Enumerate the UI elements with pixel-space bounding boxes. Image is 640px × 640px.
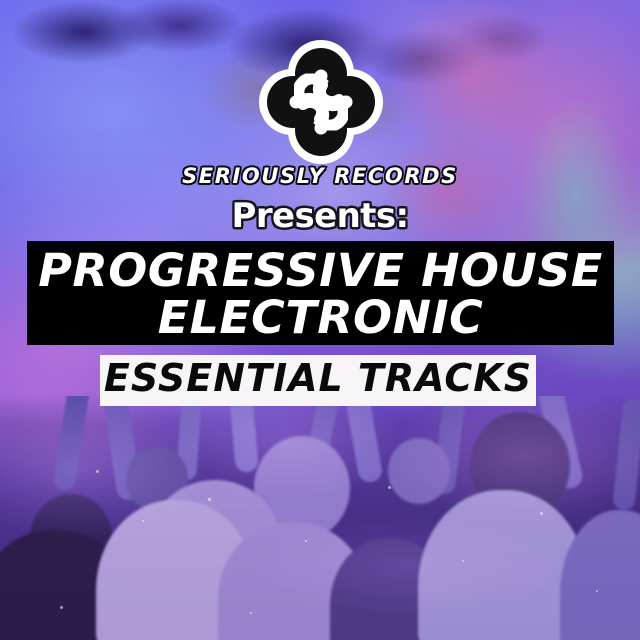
album-title: ESSENTIAL TRACKS bbox=[100, 356, 536, 400]
title-band: ESSENTIAL TRACKS bbox=[100, 355, 536, 406]
powder-speck bbox=[208, 498, 211, 501]
presents-label: Presents: bbox=[0, 196, 640, 236]
seriously-records-logo bbox=[258, 38, 384, 166]
powder-speck bbox=[60, 606, 63, 609]
powder-speck bbox=[388, 486, 391, 489]
genre-line-primary: PROGRESSIVE HOUSE bbox=[21, 244, 620, 297]
powder-speck bbox=[540, 512, 543, 515]
album-cover: SERIOUSLY RECORDS Presents: PROGRESSIVE … bbox=[0, 0, 640, 640]
genre-band: PROGRESSIVE HOUSE ELECTRONIC bbox=[27, 241, 614, 345]
powder-speck bbox=[142, 520, 144, 522]
powder-speck bbox=[305, 540, 307, 542]
powder-speck bbox=[250, 612, 252, 614]
record-label-name: SERIOUSLY RECORDS bbox=[0, 164, 640, 188]
genre-line-secondary: ELECTRONIC bbox=[21, 291, 620, 344]
powder-speck bbox=[596, 590, 598, 592]
powder-speck bbox=[96, 470, 99, 473]
powder-speck bbox=[462, 560, 464, 562]
